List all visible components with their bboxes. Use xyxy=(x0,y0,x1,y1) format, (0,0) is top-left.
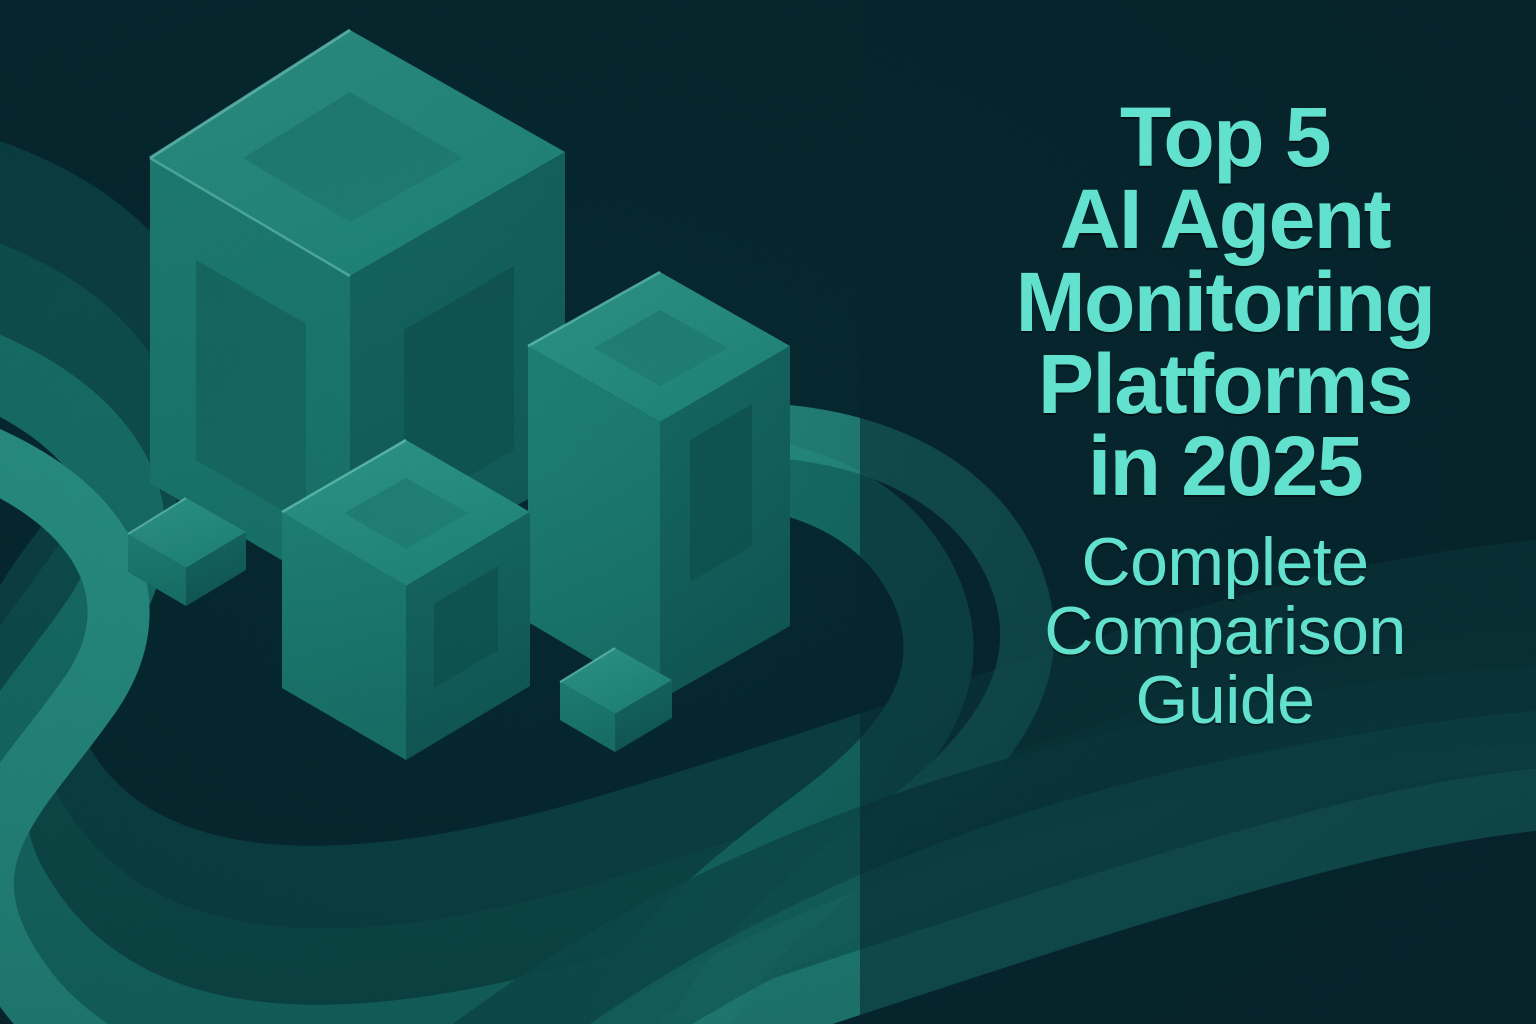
title-line-5: in 2025 xyxy=(930,425,1520,507)
subtitle-line-1: Complete xyxy=(930,528,1520,597)
title-line-1: Top 5 xyxy=(930,96,1520,178)
title-line-4: Platforms xyxy=(930,343,1520,425)
title-line-3: Monitoring xyxy=(930,261,1520,343)
page-title: Top 5 AI Agent Monitoring Platforms in 2… xyxy=(930,96,1520,508)
hero-banner: Top 5 AI Agent Monitoring Platforms in 2… xyxy=(0,0,1536,1024)
subtitle-line-2: Comparison xyxy=(930,597,1520,666)
hero-copy: Top 5 AI Agent Monitoring Platforms in 2… xyxy=(930,96,1520,736)
title-line-2: AI Agent xyxy=(930,178,1520,260)
subtitle-line-3: Guide xyxy=(930,666,1520,735)
page-subtitle: Complete Comparison Guide xyxy=(930,528,1520,736)
